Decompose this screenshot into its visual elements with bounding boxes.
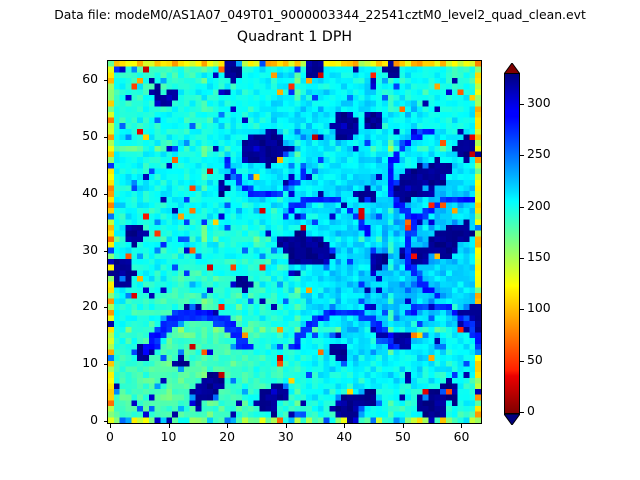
colorbar-gradient [504,73,520,414]
y-tick [104,421,108,422]
colorbar-tick-label: 250 [527,146,551,161]
x-tick [110,424,111,428]
y-tick [104,251,108,252]
x-tick [403,424,404,428]
y-tick-label: 40 [0,185,98,200]
colorbar-tick [520,309,524,310]
x-tick-label: 20 [197,429,257,444]
data-file-suptitle: Data file: modeM0/AS1A07_049T01_90000033… [0,7,640,22]
colorbar[interactable] [504,63,520,424]
x-tick [461,424,462,428]
y-tick [104,137,108,138]
x-tick-label: 30 [256,429,316,444]
colorbar-tick-label: 200 [527,198,551,213]
x-tick [227,424,228,428]
x-tick-label: 10 [139,429,199,444]
colorbar-tick [520,412,524,413]
colorbar-tick-label: 0 [527,403,535,418]
y-tick [104,364,108,365]
colorbar-tick [520,104,524,105]
colorbar-tick [520,207,524,208]
x-tick [344,424,345,428]
colorbar-tick [520,258,524,259]
heatmap-axes [107,60,482,424]
x-tick-label: 50 [373,429,433,444]
colorbar-tick-label: 100 [527,300,551,315]
x-tick-label: 60 [431,429,491,444]
colorbar-tick [520,361,524,362]
y-tick-label: 0 [0,412,98,427]
y-tick-label: 30 [0,242,98,257]
colorbar-tick-label: 50 [527,352,543,367]
y-tick [104,194,108,195]
page-title: Quadrant 1 DPH [107,29,482,45]
y-tick-label: 60 [0,71,98,86]
heatmap-canvas [108,61,481,423]
y-tick-label: 20 [0,298,98,313]
y-tick [104,307,108,308]
heatmap-image [108,61,481,423]
y-tick-label: 50 [0,128,98,143]
matplotlib-figure: Data file: modeM0/AS1A07_049T01_90000033… [0,0,640,480]
x-tick [169,424,170,428]
x-tick-label: 0 [80,429,140,444]
x-tick [286,424,287,428]
colorbar-extend-bottom-arrow [504,414,520,425]
colorbar-tick-label: 150 [527,249,551,264]
colorbar-tick [520,155,524,156]
y-tick [104,80,108,81]
y-tick-label: 10 [0,355,98,370]
colorbar-tick-label: 300 [527,95,551,110]
x-tick-label: 40 [314,429,374,444]
